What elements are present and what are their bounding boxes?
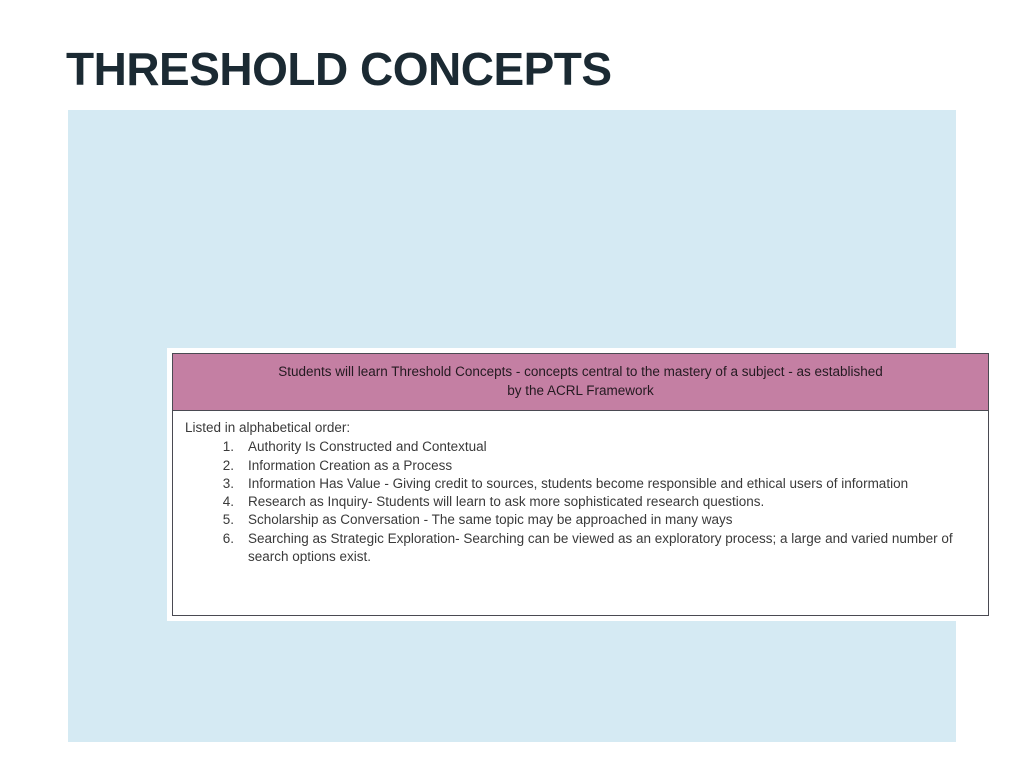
concepts-card: Students will learn Threshold Concepts -… [167,348,994,621]
list-item-label: Research as Inquiry- Students will learn… [248,493,974,511]
list-item: 3. Information Has Value - Giving credit… [184,475,974,493]
list-item-label: Information Has Value - Giving credit to… [248,475,974,493]
card-header-line-2: by the ACRL Framework [191,382,970,401]
card-body: Listed in alphabetical order: 1. Authori… [173,411,988,615]
concepts-table: Students will learn Threshold Concepts -… [172,353,989,616]
content-panel: Students will learn Threshold Concepts -… [68,110,956,742]
list-item-label: Information Creation as a Process [248,457,974,475]
list-item-label: Searching as Strategic Exploration- Sear… [248,530,974,567]
card-header-line-1: Students will learn Threshold Concepts -… [191,363,970,382]
list-item-number: 5. [212,511,234,529]
list-item-number: 6. [212,530,234,548]
list-item: 4. Research as Inquiry- Students will le… [184,493,974,511]
list-item-number: 1. [212,438,234,456]
list-item-label: Authority Is Constructed and Contextual [248,438,974,456]
card-header: Students will learn Threshold Concepts -… [173,354,988,411]
list-item-label: Scholarship as Conversation - The same t… [248,511,974,529]
list-item: 2. Information Creation as a Process [184,457,974,475]
concepts-list: 1. Authority Is Constructed and Contextu… [184,438,974,566]
list-item-number: 2. [212,457,234,475]
list-item: 6. Searching as Strategic Exploration- S… [184,530,974,567]
list-item: 5. Scholarship as Conversation - The sam… [184,511,974,529]
list-item-number: 4. [212,493,234,511]
intro-line: Listed in alphabetical order: [185,419,974,437]
page-title: THRESHOLD CONCEPTS [66,44,612,94]
list-item-number: 3. [212,475,234,493]
list-item: 1. Authority Is Constructed and Contextu… [184,438,974,456]
